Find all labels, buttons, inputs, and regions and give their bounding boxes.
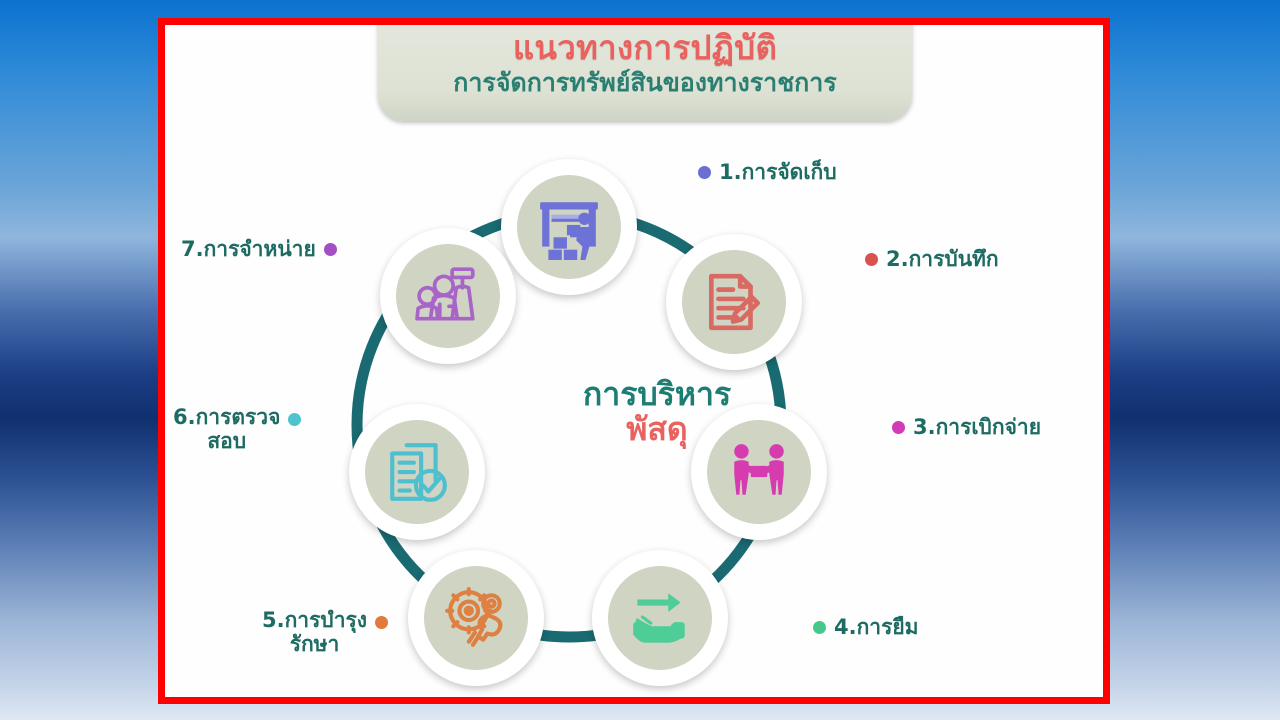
step-label-text-3: 3.การเบิกจ่าย — [913, 415, 1041, 439]
hand-arrow-icon — [627, 585, 693, 651]
handover-people-icon — [726, 439, 792, 505]
step-label-text-1: 1.การจัดเก็บ — [719, 160, 837, 184]
step-label-text-5-line2: รักษา — [262, 632, 367, 656]
step-node-5[interactable] — [408, 550, 544, 686]
page-title: แนวทางการปฏิบัติ — [378, 29, 912, 67]
step-dot-5 — [375, 616, 388, 629]
step-label-5: 5.การบำรุง รักษา — [262, 608, 388, 656]
step-label-text-6: 6.การตรวจ สอบ — [173, 405, 280, 453]
step-label-text-6-line1: 6.การตรวจ — [173, 405, 280, 429]
step-node-7[interactable] — [380, 228, 516, 364]
step-dot-7 — [324, 243, 337, 256]
step-dot-6 — [288, 413, 301, 426]
document-pencil-icon — [701, 269, 767, 335]
step-icon-bg-5 — [424, 566, 528, 670]
header-banner: แนวทางการปฏิบัติ การจัดการทรัพย์สินของทา… — [378, 25, 912, 121]
step-label-text-2: 2.การบันทึก — [886, 247, 999, 271]
slide-canvas: แนวทางการปฏิบัติ การจัดการทรัพย์สินของทา… — [165, 25, 1103, 697]
step-label-2: 2.การบันทึก — [865, 247, 999, 271]
step-icon-bg-7 — [396, 244, 500, 348]
step-node-3[interactable] — [691, 404, 827, 540]
step-label-text-4: 4.การยืม — [834, 615, 919, 639]
step-label-1: 1.การจัดเก็บ — [698, 160, 837, 184]
step-label-text-6-line2: สอบ — [173, 429, 280, 453]
slide-frame: แนวทางการปฏิบัติ การจัดการทรัพย์สินของทา… — [158, 18, 1110, 704]
step-icon-bg-1 — [517, 175, 621, 279]
gear-wrench-icon — [443, 585, 509, 651]
warehouse-storage-icon — [536, 194, 602, 260]
step-label-6: 6.การตรวจ สอบ — [173, 405, 301, 453]
page-subtitle: การจัดการทรัพย์สินของทางราชการ — [378, 68, 912, 98]
step-icon-bg-2 — [682, 250, 786, 354]
step-node-6[interactable] — [349, 404, 485, 540]
checklist-check-icon — [384, 439, 450, 505]
step-label-7: 7.การจำหน่าย — [181, 237, 337, 261]
step-label-text-7: 7.การจำหน่าย — [181, 237, 316, 261]
step-node-1[interactable] — [501, 159, 637, 295]
step-node-2[interactable] — [666, 234, 802, 370]
step-label-text-5: 5.การบำรุง รักษา — [262, 608, 367, 656]
step-label-3: 3.การเบิกจ่าย — [892, 415, 1041, 439]
slide-background: แนวทางการปฏิบัติ การจัดการทรัพย์สินของทา… — [0, 0, 1280, 720]
auction-gavel-icon — [415, 263, 481, 329]
step-icon-bg-3 — [707, 420, 811, 524]
step-dot-4 — [813, 621, 826, 634]
step-label-text-5-line1: 5.การบำรุง — [262, 608, 367, 632]
step-node-4[interactable] — [592, 550, 728, 686]
step-label-4: 4.การยืม — [813, 615, 919, 639]
step-dot-1 — [698, 166, 711, 179]
step-icon-bg-4 — [608, 566, 712, 670]
step-icon-bg-6 — [365, 420, 469, 524]
step-dot-3 — [892, 421, 905, 434]
step-dot-2 — [865, 253, 878, 266]
